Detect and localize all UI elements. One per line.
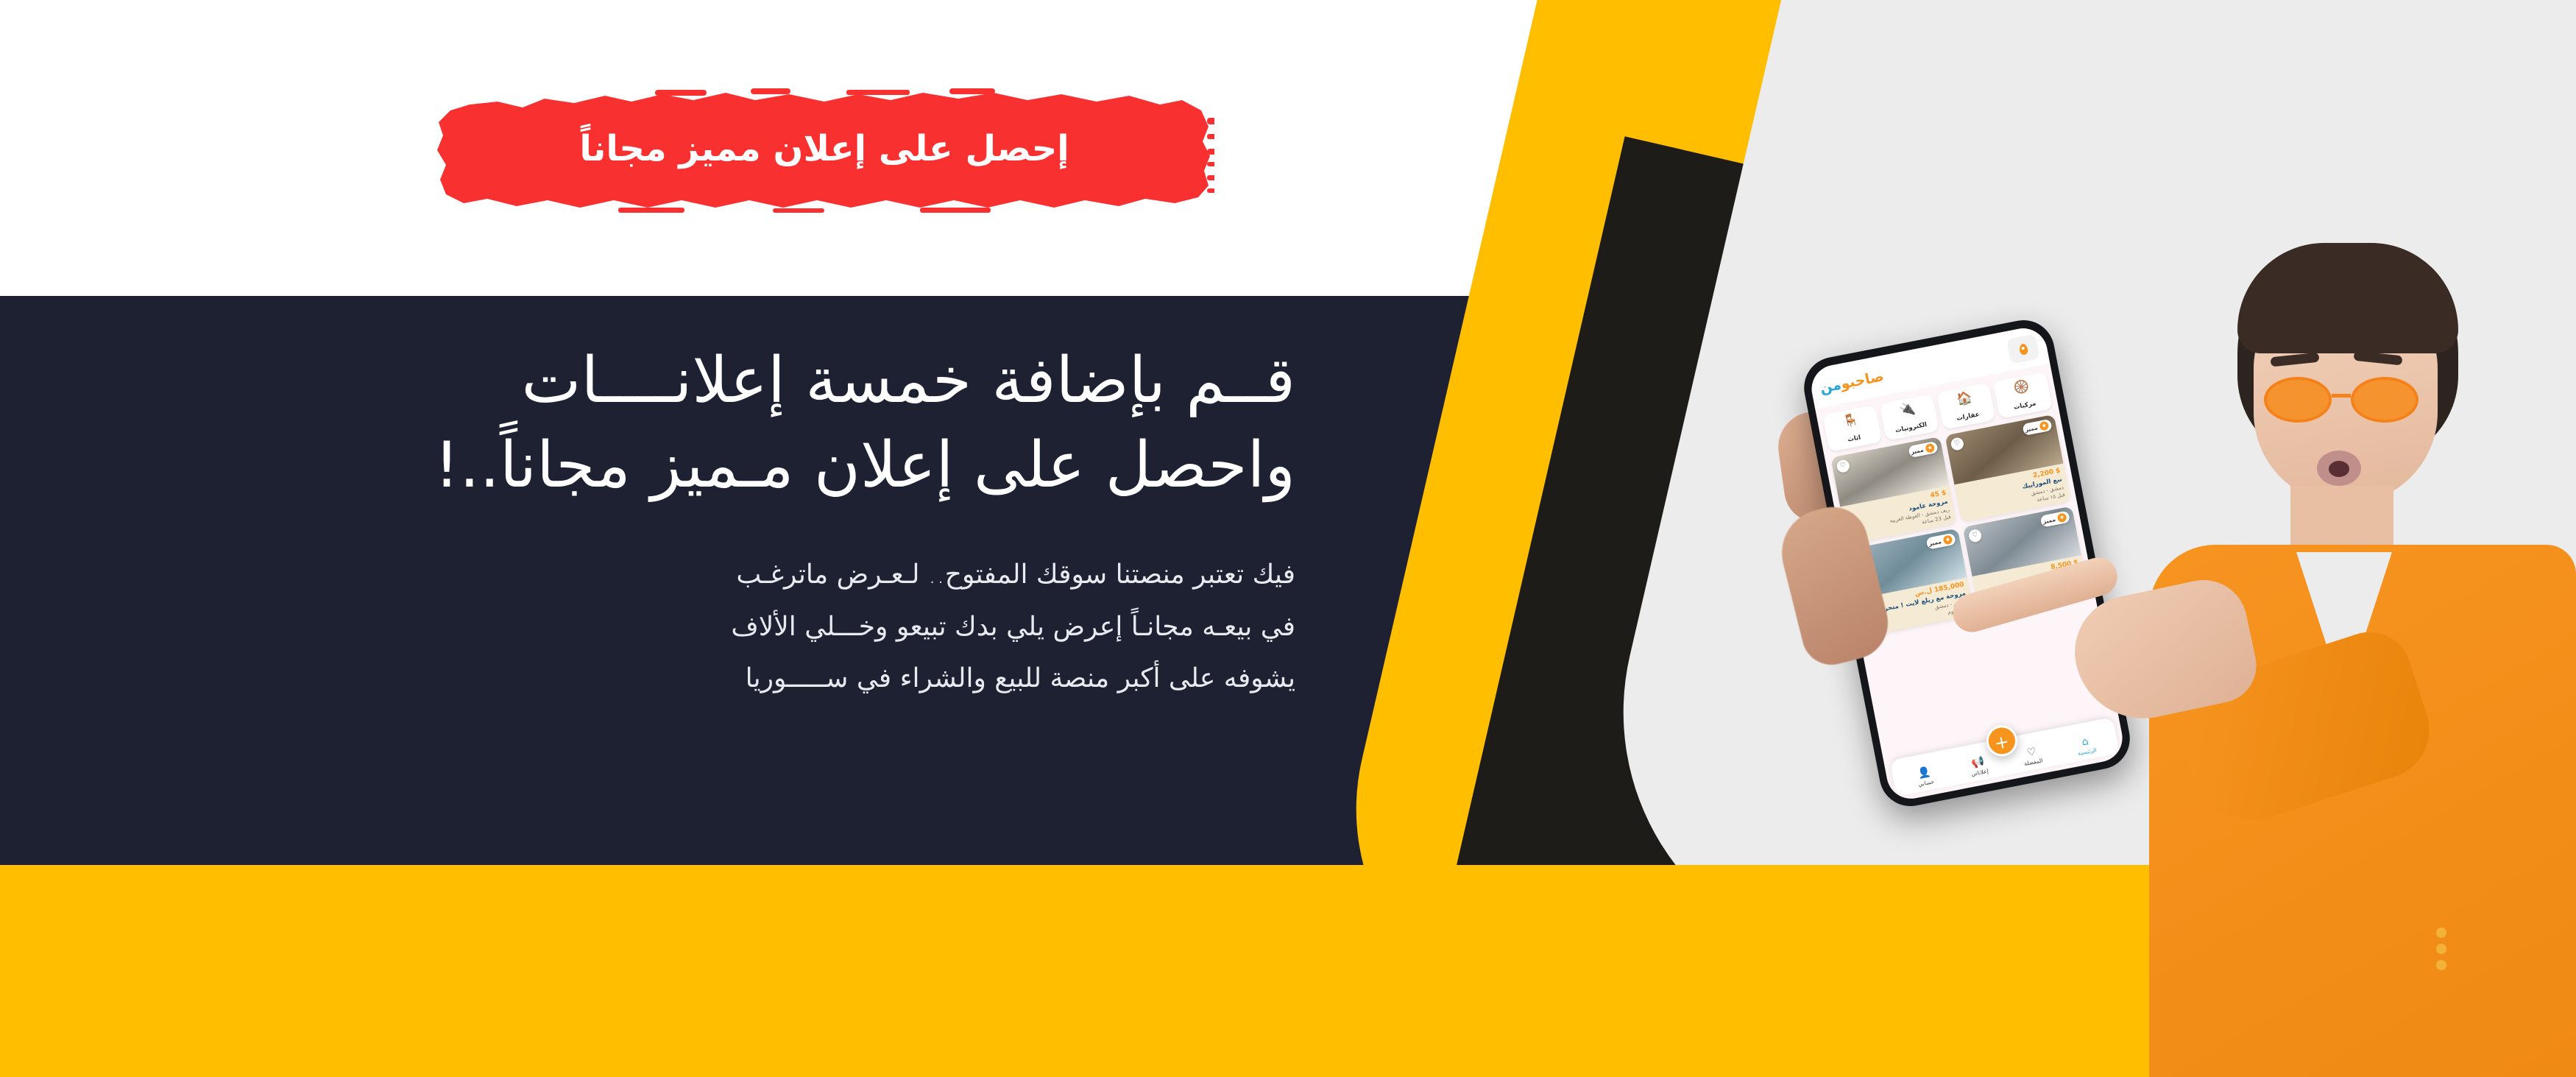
- category-label: الكترونيات: [1894, 421, 1928, 434]
- paragraph-line-3: يشوفه على أكبر منصة للبيع والشراء في ســ…: [221, 653, 1295, 705]
- promo-ribbon: إحصل على إعلان مميز مجاناً: [434, 88, 1214, 213]
- favorite-icon[interactable]: ♡: [1950, 437, 1964, 451]
- home-icon: ⌂: [2067, 734, 2103, 751]
- model-blazer-buttons: [2436, 928, 2446, 938]
- user-icon: 👤: [1907, 765, 1942, 782]
- model-photo: [2120, 243, 2576, 1077]
- headline: قــم بإضافة خمسة إعلانــــات واحصل على إ…: [221, 339, 1295, 508]
- headline-line-2: واحصل على إعلان مـميز مجاناً..!: [221, 423, 1295, 508]
- paragraph-line-2: في بيعـه مجانـاً إعرض يلي بدك تبيعو وخــ…: [221, 601, 1295, 653]
- sunglasses-lens-right: [2351, 377, 2418, 423]
- sunglasses-bridge: [2332, 394, 2351, 398]
- category-realestate[interactable]: 🏠 عقارات: [1936, 383, 1996, 430]
- featured-badge: ★ مميز: [1925, 533, 1956, 550]
- featured-badge-label: مميز: [1928, 538, 1942, 547]
- category-vehicles[interactable]: 🛞 مركبات: [1993, 372, 2053, 419]
- description-paragraph: فيك تعتبر منصتنا سوقك المفتوح.. لـعـرض م…: [221, 549, 1295, 705]
- steering-wheel-icon: 🛞: [1995, 377, 2048, 399]
- category-label: اثاث: [1847, 434, 1861, 444]
- headline-line-1: قــم بإضافة خمسة إعلانــــات: [522, 344, 1295, 417]
- house-icon: 🏠: [1939, 388, 1991, 410]
- star-icon: ★: [2039, 421, 2049, 431]
- sunglasses-lens-left: [2264, 377, 2332, 423]
- star-icon: ★: [1925, 443, 1935, 453]
- model-mouth: [2317, 451, 2361, 486]
- megaphone-icon: 📢: [1960, 755, 1995, 771]
- favorite-icon[interactable]: ♡: [1836, 459, 1850, 473]
- featured-badge-label: مميز: [1910, 446, 1924, 455]
- category-label: عقارات: [1956, 411, 1981, 423]
- app-logo-part-orange: صاحبو: [1839, 368, 1885, 392]
- category-furniture[interactable]: 🪑 اثاث: [1822, 405, 1882, 452]
- nav-item-favorites[interactable]: ♡ المفضلة: [2014, 744, 2050, 769]
- copy-block: قــم بإضافة خمسة إعلانــــات واحصل على إ…: [221, 339, 1295, 705]
- featured-badge: ★ مميز: [1908, 441, 1939, 458]
- location-button[interactable]: [2006, 334, 2040, 364]
- nav-item-home[interactable]: ⌂ الرئيسية: [2067, 734, 2104, 758]
- nav-item-account[interactable]: 👤 حسابي: [1907, 765, 1944, 789]
- favorite-icon[interactable]: ♡: [1968, 529, 1983, 543]
- chair-icon: 🪑: [1825, 410, 1877, 432]
- plug-icon: 🔌: [1882, 399, 1934, 421]
- featured-badge: ★ مميز: [2039, 510, 2070, 527]
- heart-icon: ♡: [2014, 744, 2049, 761]
- app-logo: صاحبومن: [1819, 370, 1885, 395]
- model-hair-front: [2237, 243, 2458, 353]
- featured-badge-label: مميز: [2025, 424, 2039, 433]
- nav-item-my-ads[interactable]: 📢 إعلاناتي: [1960, 755, 1997, 779]
- star-icon: ★: [2057, 512, 2067, 523]
- star-icon: ★: [1942, 534, 1953, 545]
- map-pin-icon: [2018, 343, 2028, 356]
- promo-banner: إحصل على إعلان مميز مجاناً قــم بإضافة خ…: [0, 0, 2576, 1077]
- category-label: مركبات: [2013, 400, 2037, 412]
- featured-badge-label: مميز: [2042, 516, 2056, 525]
- featured-badge: ★ مميز: [2022, 419, 2053, 436]
- paragraph-line-1: فيك تعتبر منصتنا سوقك المفتوح.. لـعـرض م…: [221, 549, 1295, 601]
- category-electronics[interactable]: 🔌 الكترونيات: [1879, 394, 1939, 441]
- promo-ribbon-label: إحصل على إعلان مميز مجاناً: [434, 88, 1214, 213]
- app-logo-part-blue: من: [1819, 376, 1843, 396]
